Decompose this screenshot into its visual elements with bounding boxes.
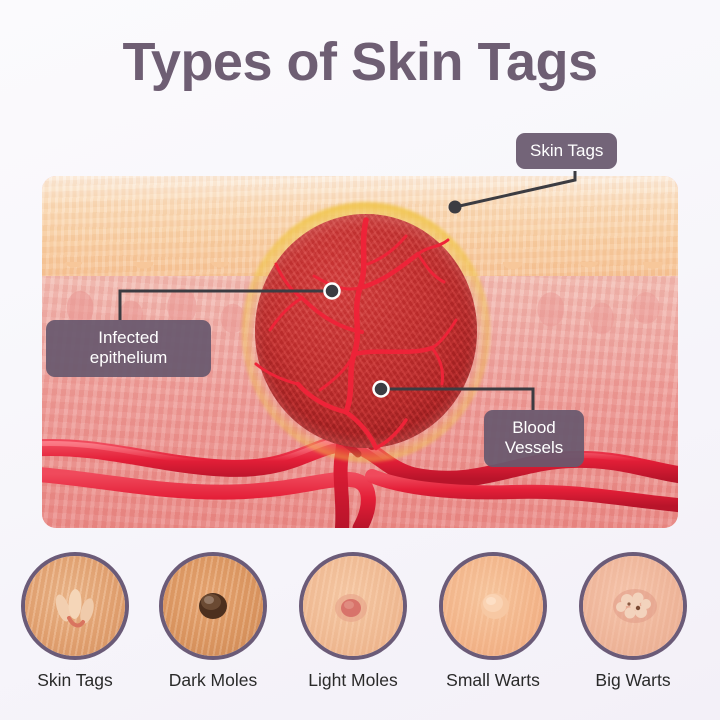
- thumbnail-image-dark-moles: [159, 552, 267, 660]
- callout-label-skin-tags: Skin Tags: [516, 133, 617, 169]
- page-title: Types of Skin Tags: [0, 34, 720, 91]
- thumbnail-skin-tags[interactable]: Skin Tags: [21, 552, 129, 660]
- thumbnail-caption-big-warts: Big Warts: [559, 670, 707, 691]
- skin-tag-mass: [242, 202, 490, 462]
- thumbnail-caption-skin-tags: Skin Tags: [1, 670, 149, 691]
- thumbnail-image-small-warts: [439, 552, 547, 660]
- thumbnail-caption-dark-moles: Dark Moles: [139, 670, 287, 691]
- callout-label-infected-epithelium: Infected epithelium: [46, 320, 211, 377]
- skin-tag-types-gallery: Skin Tags Dark Moles Light Moles: [0, 548, 720, 708]
- thumbnail-caption-light-moles: Light Moles: [279, 670, 427, 691]
- mass-blood-vessels: [242, 202, 490, 462]
- callout-label-blood-vessels: Blood Vessels: [484, 410, 584, 467]
- thumbnail-small-warts[interactable]: Small Warts: [439, 552, 547, 660]
- thumbnail-image-skin-tags: [21, 552, 129, 660]
- thumbnail-dark-moles[interactable]: Dark Moles: [159, 552, 267, 660]
- thumbnail-image-big-warts: [579, 552, 687, 660]
- thumbnail-light-moles[interactable]: Light Moles: [299, 552, 407, 660]
- thumbnail-caption-small-warts: Small Warts: [419, 670, 567, 691]
- thumbnail-image-light-moles: [299, 552, 407, 660]
- thumbnail-big-warts[interactable]: Big Warts: [579, 552, 687, 660]
